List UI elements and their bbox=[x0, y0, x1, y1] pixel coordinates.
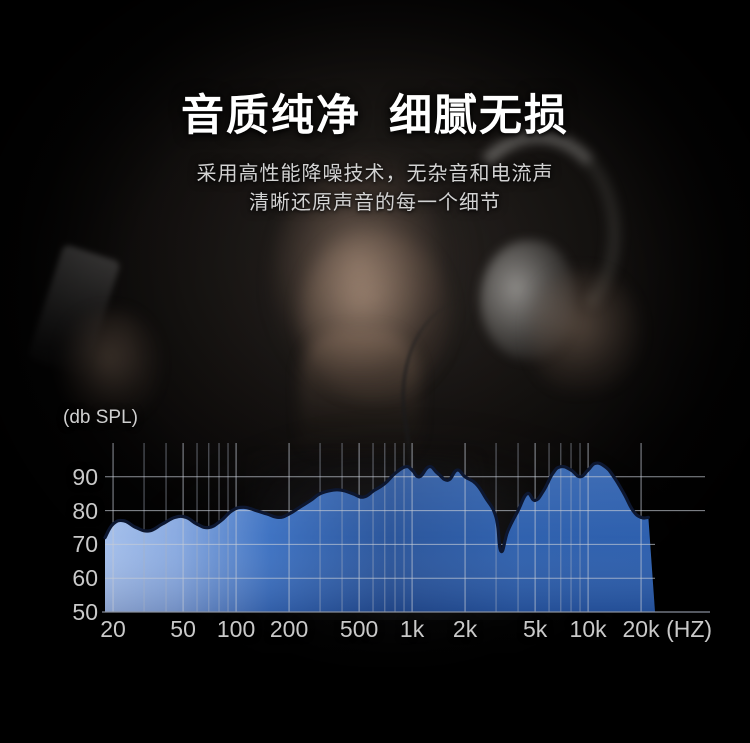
model-face bbox=[300, 230, 450, 400]
x-tick-2k: 2k bbox=[453, 618, 477, 641]
copy-block: 音质纯净 细腻无损 采用高性能降噪技术，无杂音和电流声 清晰还原声音的每一个细节 bbox=[0, 92, 750, 218]
y-tick-60: 60 bbox=[72, 567, 98, 590]
x-tick-500: 500 bbox=[340, 618, 378, 641]
headline: 音质纯净 细腻无损 bbox=[0, 92, 750, 140]
y-tick-80: 80 bbox=[72, 500, 98, 523]
x-tick-100: 100 bbox=[217, 618, 255, 641]
x-axis-labels: 20501002005001k2k5k10k20k(HZ) bbox=[0, 618, 750, 648]
x-tick-1k: 1k bbox=[400, 618, 424, 641]
y-tick-90: 90 bbox=[72, 466, 98, 489]
x-tick-20: 20 bbox=[100, 618, 126, 641]
y-tick-70: 70 bbox=[72, 533, 98, 556]
x-tick-10k: 10k bbox=[570, 618, 607, 641]
product-banner: 音质纯净 细腻无损 采用高性能降噪技术，无杂音和电流声 清晰还原声音的每一个细节… bbox=[0, 0, 750, 743]
x-axis-unit-label: (HZ) bbox=[666, 618, 712, 641]
subline-line-1: 采用高性能降噪技术，无杂音和电流声 bbox=[0, 160, 750, 189]
x-tick-200: 200 bbox=[270, 618, 308, 641]
smartphone bbox=[27, 244, 121, 377]
x-tick-50: 50 bbox=[170, 618, 196, 641]
x-tick-5k: 5k bbox=[523, 618, 547, 641]
headphone-earcup bbox=[480, 240, 575, 360]
y-axis-labels: 9080706050 bbox=[58, 400, 98, 655]
subline-line-2: 清晰还原声音的每一个细节 bbox=[0, 189, 750, 218]
x-tick-20k: 20k bbox=[623, 618, 660, 641]
frequency-response-chart: (db SPL) bbox=[0, 400, 750, 655]
model-right-hand bbox=[530, 270, 640, 390]
subline-block: 采用高性能降噪技术，无杂音和电流声 清晰还原声音的每一个细节 bbox=[0, 160, 750, 218]
